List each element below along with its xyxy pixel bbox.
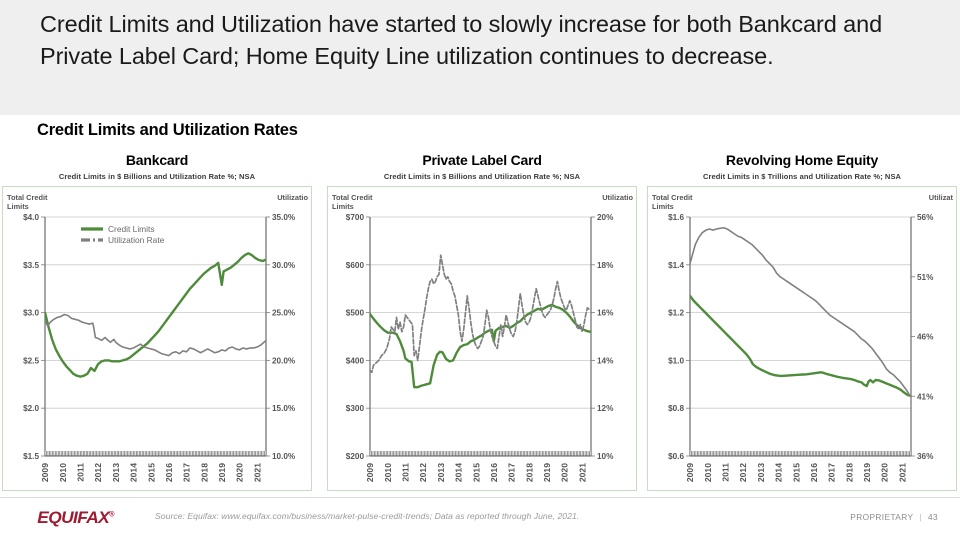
x-tick-label: 2012 — [418, 463, 428, 482]
footer-meta: PROPRIETARY|43 — [850, 512, 938, 522]
x-tick-label: 2010 — [383, 463, 393, 482]
y-tick-label: $0.8 — [668, 404, 684, 413]
x-tick-label: 2017 — [507, 463, 517, 482]
x-tick-label: 2020 — [235, 463, 245, 482]
y2-tick-label: 35.0% — [272, 213, 296, 222]
y-tick-label: $600 — [346, 261, 365, 270]
chart-svg: Total CreditLimitsUtilizat$0.6$0.8$1.0$1… — [648, 187, 956, 490]
x-tick-label: 2018 — [844, 463, 854, 482]
series-line-utilization-rate — [690, 228, 910, 397]
y2-tick-label: 20.0% — [272, 356, 296, 365]
x-tick-label: 2011 — [76, 463, 86, 482]
left-axis-label: Total CreditLimits — [332, 193, 373, 211]
y2-tick-label: 10.0% — [272, 452, 296, 461]
y-tick-label: $700 — [346, 213, 365, 222]
x-tick-label: 2016 — [164, 463, 174, 482]
chart-subtitle: Credit Limits in $ Billions and Utilizat… — [327, 172, 637, 184]
x-tick-label: 2014 — [774, 463, 784, 482]
x-tick-label: 2016 — [809, 463, 819, 482]
y2-tick-label: 18% — [597, 261, 614, 270]
y-tick-label: $1.6 — [668, 213, 684, 222]
right-axis-label: Utilizatio — [602, 193, 633, 202]
y-tick-label: $500 — [346, 309, 365, 318]
x-axis-tick-band — [370, 451, 591, 457]
right-axis-label: Utilizatio — [277, 193, 308, 202]
x-tick-label: 2011 — [721, 463, 731, 482]
y2-tick-label: 25.0% — [272, 309, 296, 318]
x-tick-label: 2009 — [365, 463, 375, 482]
y-tick-label: $0.6 — [668, 452, 684, 461]
legend-label-utilization-rate: Utilization Rate — [108, 235, 165, 245]
series-line-credit-limits — [45, 253, 265, 376]
y2-tick-label: 51% — [917, 273, 934, 282]
y2-tick-label: 56% — [917, 213, 934, 222]
y2-tick-label: 10% — [597, 452, 614, 461]
equifax-logo: EQUIFAX® — [37, 508, 114, 528]
y-tick-label: $4.0 — [23, 213, 39, 222]
x-tick-label: 2014 — [129, 463, 139, 482]
y-tick-label: $3.5 — [23, 261, 39, 270]
left-axis-label: Total CreditLimits — [7, 193, 48, 211]
x-tick-label: 2011 — [401, 463, 411, 482]
x-tick-label: 2015 — [146, 463, 156, 482]
x-axis-tick-band — [690, 451, 911, 457]
x-tick-label: 2013 — [436, 463, 446, 482]
y-tick-label: $300 — [346, 404, 365, 413]
y2-tick-label: 36% — [917, 452, 934, 461]
left-axis-label: Total CreditLimits — [652, 193, 693, 211]
x-tick-label: 2009 — [40, 463, 50, 482]
x-tick-label: 2015 — [791, 463, 801, 482]
x-tick-label: 2014 — [454, 463, 464, 482]
y-tick-label: $1.2 — [668, 309, 684, 318]
page-number: 43 — [928, 512, 938, 522]
y-tick-label: $400 — [346, 356, 365, 365]
y2-tick-label: 30.0% — [272, 261, 296, 270]
chart-panel-bankcard: Bankcard Credit Limits in $ Billions and… — [2, 152, 312, 492]
x-tick-label: 2019 — [862, 463, 872, 482]
y-tick-label: $2.0 — [23, 404, 39, 413]
x-tick-label: 2009 — [685, 463, 695, 482]
slide-headline: Credit Limits and Utilization have start… — [40, 8, 930, 72]
x-tick-label: 2012 — [93, 463, 103, 482]
source-note: Source: Equifax: www.equifax.com/busines… — [155, 511, 579, 521]
series-line-utilization-rate — [370, 255, 590, 372]
x-axis-tick-band — [45, 451, 266, 457]
chart-panel-revolving-home-equity: Revolving Home Equity Credit Limits in $… — [647, 152, 957, 492]
y2-tick-label: 15.0% — [272, 404, 296, 413]
chart-subtitle: Credit Limits in $ Trillions and Utiliza… — [647, 172, 957, 184]
footer-divider — [0, 497, 960, 498]
y-tick-label: $200 — [346, 452, 365, 461]
x-tick-label: 2015 — [471, 463, 481, 482]
y-tick-label: $1.0 — [668, 356, 684, 365]
x-tick-label: 2020 — [880, 463, 890, 482]
chart-plot-area: Total CreditLimitsUtilizatio$1.5$2.0$2.5… — [2, 186, 312, 491]
chart-svg: Total CreditLimitsUtilizatio$1.5$2.0$2.5… — [3, 187, 311, 490]
chart-title: Private Label Card — [327, 152, 637, 170]
y2-tick-label: 46% — [917, 333, 934, 342]
x-tick-label: 2021 — [577, 463, 587, 482]
x-tick-label: 2012 — [738, 463, 748, 482]
y-tick-label: $1.4 — [668, 261, 684, 270]
series-line-credit-limits — [690, 296, 910, 396]
y-tick-label: $3.0 — [23, 309, 39, 318]
x-tick-label: 2019 — [217, 463, 227, 482]
header-band: Credit Limits and Utilization have start… — [0, 0, 960, 115]
proprietary-label: PROPRIETARY — [850, 512, 913, 522]
chart-subtitle: Credit Limits in $ Billions and Utilizat… — [2, 172, 312, 184]
x-tick-label: 2021 — [252, 463, 262, 482]
x-tick-label: 2010 — [703, 463, 713, 482]
y-tick-label: $2.5 — [23, 356, 39, 365]
chart-plot-area: Total CreditLimitsUtilizat$0.6$0.8$1.0$1… — [647, 186, 957, 491]
y2-tick-label: 41% — [917, 392, 934, 401]
chart-plot-area: Total CreditLimitsUtilizatio$200$300$400… — [327, 186, 637, 491]
x-tick-label: 2021 — [897, 463, 907, 482]
y2-tick-label: 12% — [597, 404, 614, 413]
x-tick-label: 2017 — [182, 463, 192, 482]
x-tick-label: 2018 — [199, 463, 209, 482]
x-tick-label: 2016 — [489, 463, 499, 482]
logo-text: EQUIFAX — [37, 508, 109, 527]
slide-root: Credit Limits and Utilization have start… — [0, 0, 960, 540]
chart-panel-private-label-card: Private Label Card Credit Limits in $ Bi… — [327, 152, 637, 492]
x-tick-label: 2017 — [827, 463, 837, 482]
x-tick-label: 2013 — [756, 463, 766, 482]
y2-tick-label: 20% — [597, 213, 614, 222]
legend-label-credit-limits: Credit Limits — [108, 224, 155, 234]
section-title: Credit Limits and Utilization Rates — [37, 121, 298, 140]
chart-legend: Credit LimitsUtilization Rate — [81, 224, 165, 245]
chart-title: Revolving Home Equity — [647, 152, 957, 170]
chart-svg: Total CreditLimitsUtilizatio$200$300$400… — [328, 187, 636, 490]
x-tick-label: 2019 — [542, 463, 552, 482]
logo-registered-mark: ® — [109, 511, 114, 518]
right-axis-label: Utilizat — [929, 193, 954, 202]
series-group — [45, 253, 265, 376]
chart-title: Bankcard — [2, 152, 312, 170]
y2-tick-label: 16% — [597, 309, 614, 318]
y2-tick-label: 14% — [597, 356, 614, 365]
x-tick-label: 2018 — [524, 463, 534, 482]
footer-separator: | — [919, 512, 922, 522]
x-tick-label: 2010 — [58, 463, 68, 482]
x-tick-label: 2020 — [560, 463, 570, 482]
series-group — [370, 255, 590, 387]
x-tick-label: 2013 — [111, 463, 121, 482]
y-tick-label: $1.5 — [23, 452, 39, 461]
series-group — [690, 228, 910, 397]
